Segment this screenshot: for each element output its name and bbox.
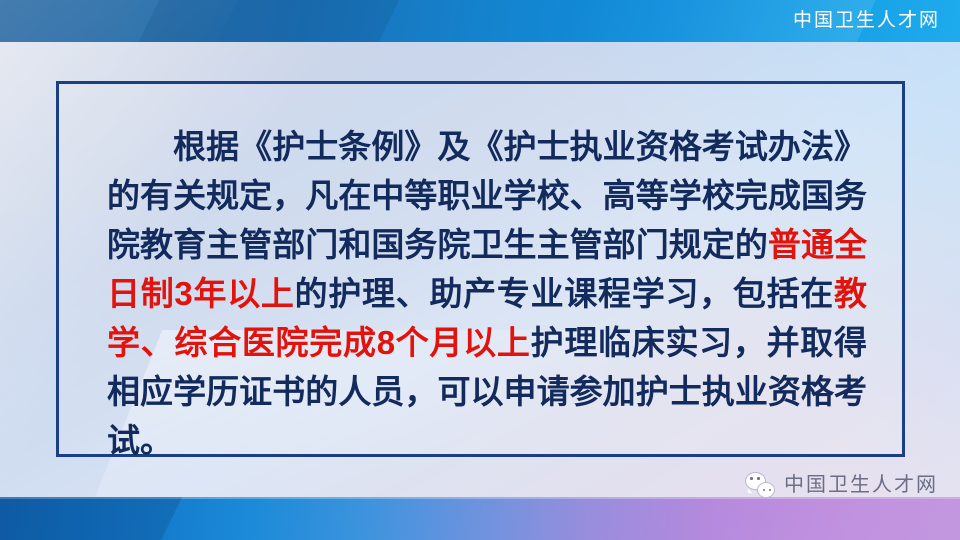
wechat-icon: [745, 472, 775, 498]
bottom-banner-shape-1: [0, 497, 187, 540]
top-banner-shape-2: [118, 0, 421, 42]
bottom-banner-shape-2: [684, 497, 960, 540]
paragraph-segment-3: 的护理、助产专业课程学习，包括在: [295, 275, 834, 312]
policy-paragraph: 根据《护士条例》及《护士执业资格考试办法》的有关规定，凡在中等职业学校、高等学校…: [107, 122, 867, 465]
footer-brand: 中国卫生人才网: [745, 472, 938, 498]
bottom-banner: [0, 497, 960, 540]
footer-brand-label: 中国卫生人才网: [784, 475, 938, 495]
slide: 中国卫生人才网 根据《护士条例》及《护士执业资格考试办法》的有关规定，凡在中等职…: [0, 0, 960, 540]
content-box: 根据《护士条例》及《护士执业资格考试办法》的有关规定，凡在中等职业学校、高等学校…: [56, 81, 905, 457]
top-banner: 中国卫生人才网: [0, 0, 960, 42]
header-brand-label: 中国卫生人才网: [793, 0, 940, 42]
paragraph-segment-1: 根据《护士条例》及《护士执业资格考试办法》的有关规定，凡在中等职业学校、高等学校…: [107, 128, 867, 263]
